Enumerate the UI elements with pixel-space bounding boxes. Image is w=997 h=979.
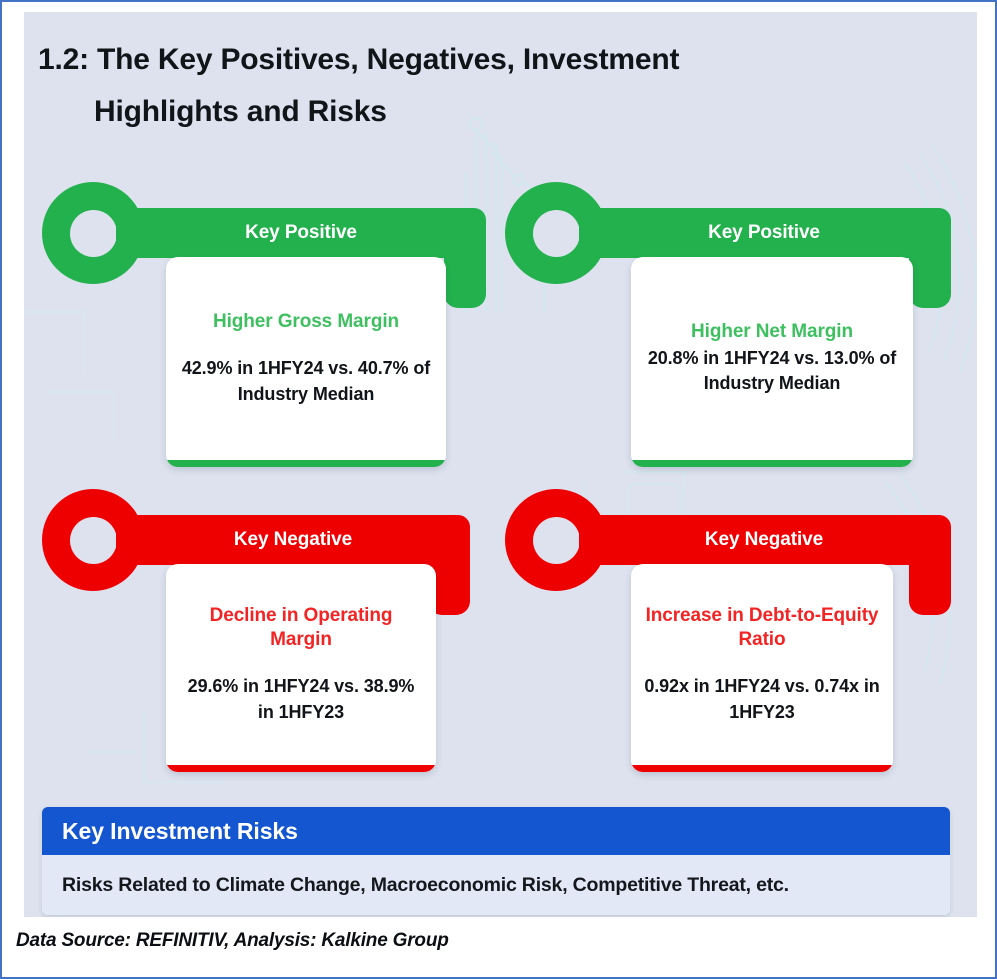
- key-tooth: [909, 549, 951, 615]
- card-detail: 42.9% in 1HFY24 vs. 40.7% of Industry Me…: [178, 356, 434, 407]
- key-banner-label: Key Positive: [116, 222, 486, 244]
- key-investment-risks-panel: Key Investment Risks Risks Related to Cl…: [42, 807, 950, 915]
- key-banner-label: Key Positive: [579, 222, 949, 244]
- key-tooth: [444, 242, 486, 308]
- card-accent-bar: [631, 765, 893, 772]
- source-note: Data Source: REFINITIV, Analysis: Kalkin…: [16, 930, 449, 952]
- card-heading: Higher Gross Margin: [213, 310, 399, 334]
- infographic-frame: B 1.2: The Key Positives, Negatives, Inv…: [0, 0, 997, 979]
- card-heading: Decline in Operating Margin: [178, 604, 424, 653]
- card-detail: 29.6% in 1HFY24 vs. 38.9% in 1HFY23: [178, 674, 424, 725]
- info-card: Increase in Debt-to-Equity Ratio 0.92x i…: [631, 564, 893, 772]
- page-title-line-1: 1.2: The Key Positives, Negatives, Inves…: [38, 43, 679, 76]
- card-heading: Increase in Debt-to-Equity Ratio: [643, 604, 881, 653]
- infographic-canvas: B 1.2: The Key Positives, Negatives, Inv…: [24, 12, 977, 917]
- info-card: Higher Gross Margin 42.9% in 1HFY24 vs. …: [166, 257, 446, 467]
- info-card: Higher Net Margin 20.8% in 1HFY24 vs. 13…: [631, 257, 913, 467]
- key-card-negative-debt-to-equity: Key Negative Increase in Debt-to-Equity …: [505, 489, 960, 774]
- key-banner-label: Key Negative: [116, 529, 470, 551]
- risks-panel-header: Key Investment Risks: [42, 807, 950, 855]
- card-detail: 0.92x in 1HFY24 vs. 0.74x in 1HFY23: [643, 674, 881, 725]
- risks-panel-header-label: Key Investment Risks: [62, 818, 298, 845]
- key-card-negative-operating-margin: Key Negative Decline in Operating Margin…: [42, 489, 497, 774]
- card-heading: Higher Net Margin: [691, 320, 853, 344]
- card-accent-bar: [166, 460, 446, 467]
- key-tooth: [909, 242, 951, 308]
- risks-panel-body: Risks Related to Climate Change, Macroec…: [42, 855, 950, 915]
- card-accent-bar: [166, 765, 436, 772]
- key-banner-label: Key Negative: [579, 529, 949, 551]
- page-title-line-2: Highlights and Risks: [38, 86, 888, 138]
- key-card-positive-net-margin: Key Positive Higher Net Margin 20.8% in …: [505, 182, 960, 467]
- card-accent-bar: [631, 460, 913, 467]
- info-card: Decline in Operating Margin 29.6% in 1HF…: [166, 564, 436, 772]
- risks-panel-body-text: Risks Related to Climate Change, Macroec…: [62, 874, 789, 897]
- card-detail: 20.8% in 1HFY24 vs. 13.0% of Industry Me…: [643, 346, 901, 397]
- key-card-positive-gross-margin: Key Positive Higher Gross Margin 42.9% i…: [42, 182, 497, 467]
- page-title: 1.2: The Key Positives, Negatives, Inves…: [38, 34, 888, 137]
